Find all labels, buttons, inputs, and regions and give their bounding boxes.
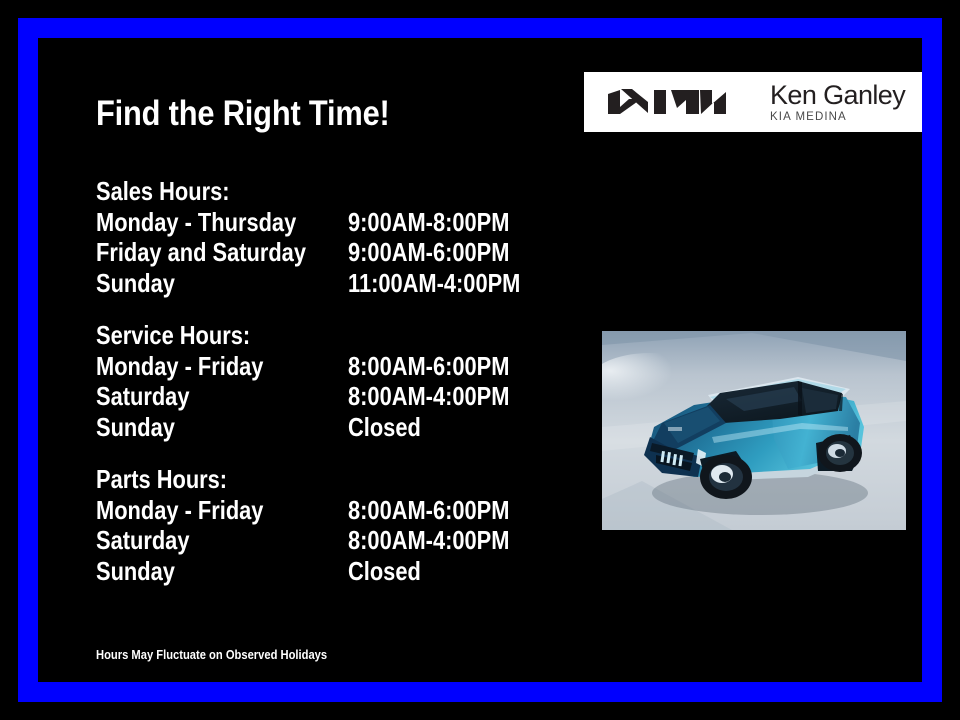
hours-row: Saturday 8:00AM-4:00PM [96, 525, 491, 556]
hours-row: Monday - Thursday 9:00AM-8:00PM [96, 207, 491, 238]
hours-block-sales: Sales Hours: Monday - Thursday 9:00AM-8:… [96, 176, 566, 298]
hours-row: Sunday Closed [96, 412, 491, 443]
hours-row-time: 8:00AM-4:00PM [348, 525, 509, 556]
blue-border-frame: Find the Right Time! [18, 18, 942, 702]
dealer-logo-panel: Ken Ganley KIA MEDINA [584, 72, 922, 132]
dealer-name-block: Ken Ganley KIA MEDINA [770, 81, 905, 124]
dealer-name: Ken Ganley [770, 81, 905, 110]
disclaimer-text: Hours May Fluctuate on Observed Holidays [96, 648, 327, 661]
hours-row-day: Sunday [96, 268, 348, 299]
hours-heading: Sales Hours: [96, 176, 491, 207]
hours-row: Friday and Saturday 9:00AM-6:00PM [96, 237, 491, 268]
slide: Find the Right Time! [0, 0, 960, 720]
hours-row-day: Monday - Thursday [96, 207, 348, 238]
hours-row-day: Monday - Friday [96, 351, 348, 382]
hours-row-time: 8:00AM-6:00PM [348, 351, 509, 382]
hours-row: Sunday 11:00AM-4:00PM [96, 268, 491, 299]
hours-row-day: Friday and Saturday [96, 237, 348, 268]
hours-heading: Service Hours: [96, 320, 491, 351]
kia-ev9-suv-photo [602, 331, 906, 530]
hours-row-time: 9:00AM-8:00PM [348, 207, 509, 238]
hours-list: Sales Hours: Monday - Thursday 9:00AM-8:… [96, 176, 566, 586]
hours-row-day: Saturday [96, 381, 348, 412]
page-title: Find the Right Time! [96, 96, 390, 131]
hours-row-day: Monday - Friday [96, 495, 348, 526]
hours-row-time: 8:00AM-6:00PM [348, 495, 509, 526]
hours-row: Sunday Closed [96, 556, 491, 587]
hours-row-day: Sunday [96, 412, 348, 443]
hours-row: Monday - Friday 8:00AM-6:00PM [96, 351, 491, 382]
hours-row: Saturday 8:00AM-4:00PM [96, 381, 491, 412]
hours-row-time: Closed [348, 412, 491, 443]
hours-row-time: 8:00AM-4:00PM [348, 381, 509, 412]
hours-row: Monday - Friday 8:00AM-6:00PM [96, 495, 491, 526]
hours-block-service: Service Hours: Monday - Friday 8:00AM-6:… [96, 320, 566, 442]
hours-row-time: Closed [348, 556, 491, 587]
kia-logo-icon [606, 87, 731, 117]
dealer-sublabel: KIA MEDINA [770, 110, 905, 124]
content-area: Find the Right Time! [38, 38, 922, 682]
hours-row-day: Saturday [96, 525, 348, 556]
hours-block-parts: Parts Hours: Monday - Friday 8:00AM-6:00… [96, 464, 566, 586]
hours-heading: Parts Hours: [96, 464, 491, 495]
hours-row-day: Sunday [96, 556, 348, 587]
hours-row-time: 11:00AM-4:00PM [348, 268, 520, 299]
hours-row-time: 9:00AM-6:00PM [348, 237, 509, 268]
